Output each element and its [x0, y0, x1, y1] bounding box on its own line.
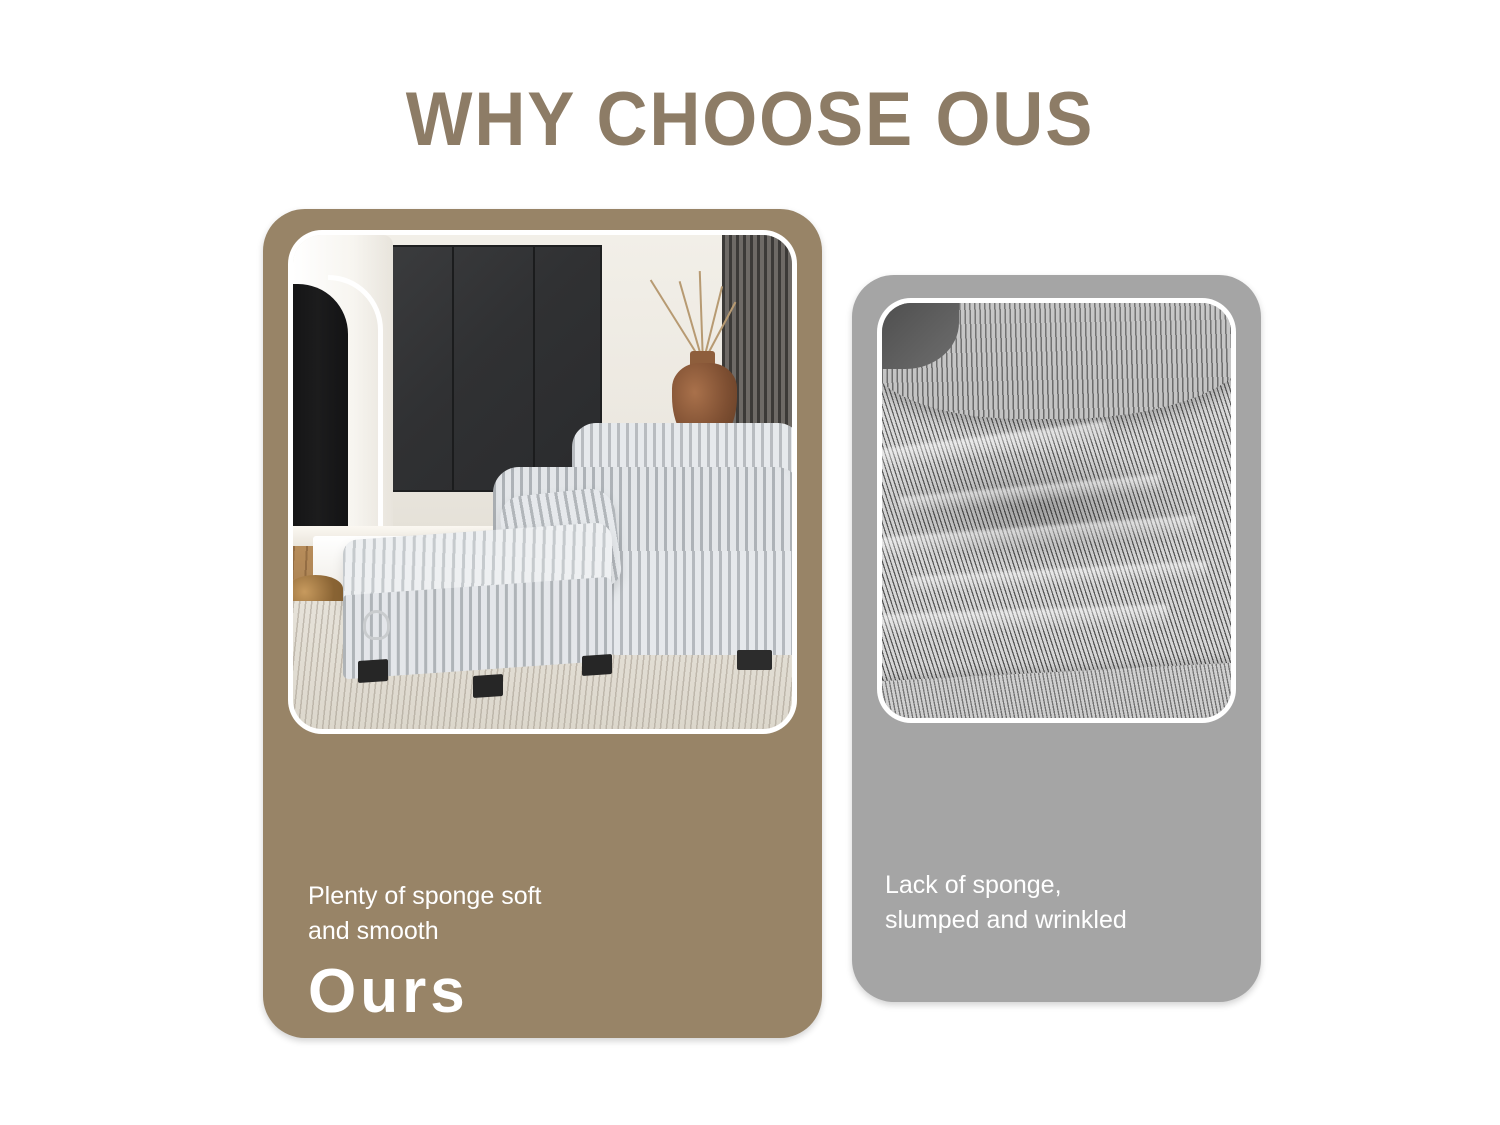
ours-product-image [293, 235, 792, 729]
sofa-seat-section [602, 551, 792, 655]
others-product-image [882, 303, 1231, 718]
others-description: Lack of sponge, slumped and wrinkled [885, 868, 1127, 938]
page-title: WHY CHOOSE OUS [53, 76, 1448, 163]
sofa-foot [737, 650, 772, 670]
seat-front-edge [882, 662, 1231, 718]
comparison-card-ours: Ours Plenty of sponge soft and smooth [263, 209, 822, 1038]
wrinkle-line [882, 605, 1168, 637]
ours-photo-frame [288, 230, 797, 734]
storage-pull-strap [363, 610, 390, 640]
ottoman-foot-front [473, 674, 503, 698]
seat-sag-shadow [882, 452, 1231, 577]
basket-contents [293, 575, 343, 603]
ottoman-foot-right [582, 654, 612, 676]
ours-heading: Ours [308, 961, 469, 1023]
comparison-card-others: Others Lack of sponge, slumped and wrink… [852, 275, 1261, 1002]
ours-description: Plenty of sponge soft and smooth [308, 879, 541, 949]
dried-branches-icon [657, 265, 747, 364]
dark-fireplace-panel [373, 245, 603, 492]
others-photo-frame [877, 298, 1236, 723]
ottoman-foot-left [358, 659, 388, 683]
